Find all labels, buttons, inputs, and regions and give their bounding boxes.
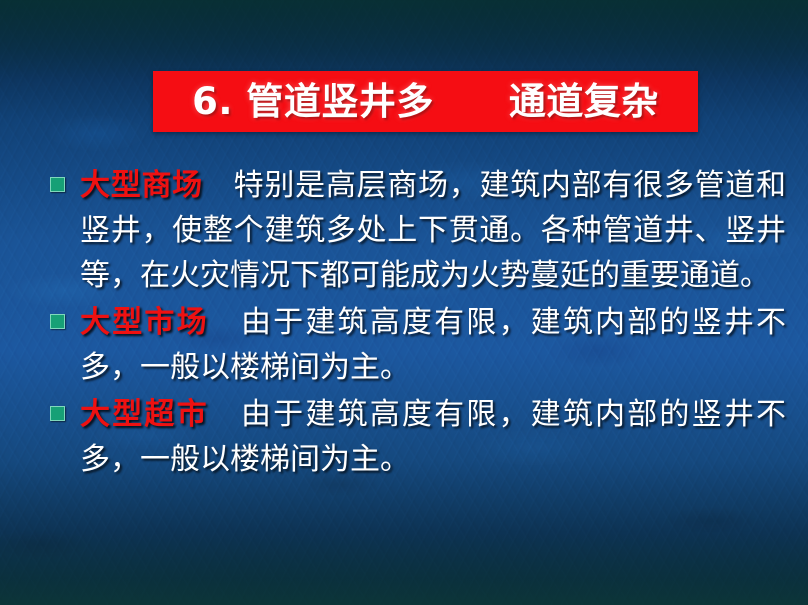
- square-bullet-icon: [50, 177, 65, 192]
- bullet-text: 大型市场 由于建筑高度有限，建筑内部的竖井不多，一般以楼梯间为主。: [80, 300, 786, 390]
- bullet-item: 大型超市 由于建筑高度有限，建筑内部的竖井不多，一般以楼梯间为主。: [46, 392, 786, 482]
- slide-title-banner: 6. 管道竖井多 通道复杂: [153, 71, 698, 132]
- bullet-text: 大型超市 由于建筑高度有限，建筑内部的竖井不多，一般以楼梯间为主。: [80, 392, 786, 482]
- bullet-item: 大型市场 由于建筑高度有限，建筑内部的竖井不多，一般以楼梯间为主。: [46, 300, 786, 390]
- bullet-item: 大型商场 特别是高层商场，建筑内部有很多管道和竖井，使整个建筑多处上下贯通。各种…: [46, 163, 786, 298]
- bullet-lead-label: 大型商场: [80, 168, 203, 203]
- bullet-lead-label: 大型超市: [80, 397, 209, 432]
- slide-title: 6. 管道竖井多 通道复杂: [192, 83, 659, 120]
- square-bullet-icon: [50, 406, 65, 421]
- presentation-slide: 6. 管道竖井多 通道复杂 大型商场 特别是高层商场，建筑内部有很多管道和竖井，…: [0, 0, 808, 605]
- square-bullet-icon: [50, 314, 65, 329]
- bullet-text: 大型商场 特别是高层商场，建筑内部有很多管道和竖井，使整个建筑多处上下贯通。各种…: [80, 163, 786, 298]
- slide-body: 大型商场 特别是高层商场，建筑内部有很多管道和竖井，使整个建筑多处上下贯通。各种…: [46, 163, 786, 484]
- bullet-lead-label: 大型市场: [80, 305, 209, 340]
